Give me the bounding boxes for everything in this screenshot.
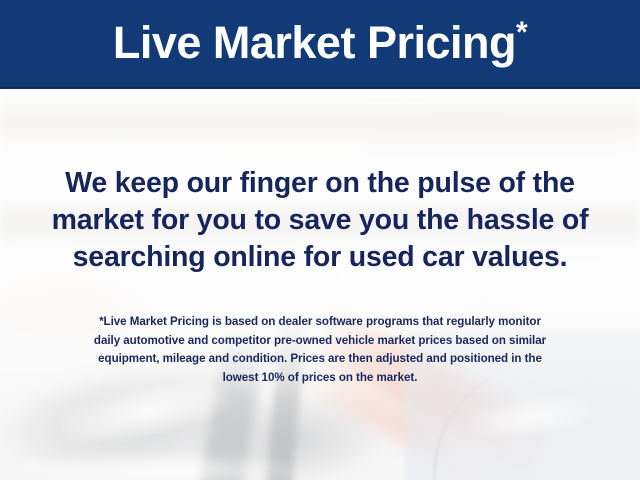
page-title: Live Market Pricing* <box>113 20 527 65</box>
live-market-pricing-slide: Live Market Pricing* We keep our finger … <box>0 0 640 480</box>
page-title-text: Live Market Pricing <box>113 17 516 68</box>
headline-line-1: We keep our finger on the pulse of the <box>0 165 640 202</box>
page-title-asterisk: * <box>516 16 527 49</box>
disclaimer-line-3: equipment, mileage and condition. Prices… <box>0 350 640 369</box>
headline-line-3: searching online for used car values. <box>0 239 640 276</box>
content-area: We keep our finger on the pulse of the m… <box>0 89 640 480</box>
disclaimer-block: *Live Market Pricing is based on dealer … <box>0 313 640 387</box>
headline-line-2: market for you to save you the hassle of <box>0 202 640 239</box>
disclaimer-line-1: *Live Market Pricing is based on dealer … <box>0 313 640 332</box>
header-banner: Live Market Pricing* <box>0 0 640 89</box>
disclaimer-line-2: daily automotive and competitor pre-owne… <box>0 332 640 351</box>
headline-block: We keep our finger on the pulse of the m… <box>0 165 640 276</box>
disclaimer-line-4: lowest 10% of prices on the market. <box>0 369 640 388</box>
